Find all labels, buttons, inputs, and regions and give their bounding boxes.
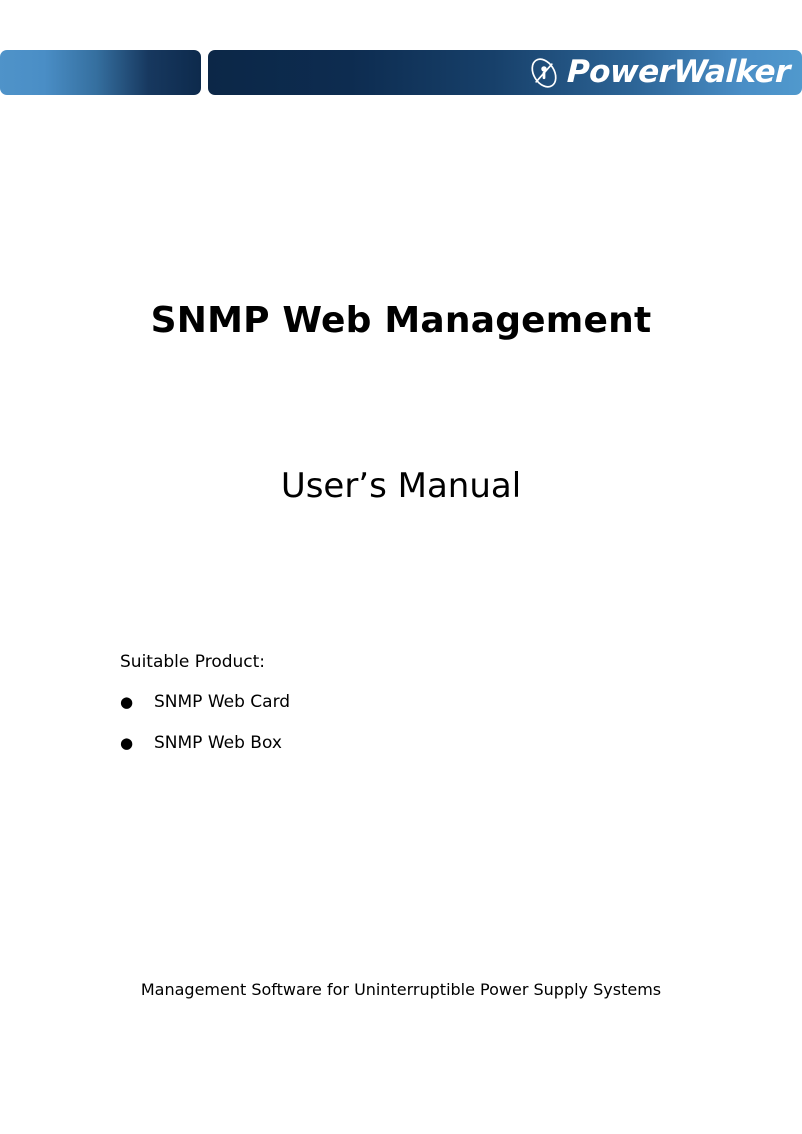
powerwalker-oval-emblem — [527, 56, 561, 90]
page-subtitle: User’s Manual — [0, 466, 802, 507]
product-label: SNMP Web Card — [138, 692, 290, 712]
list-item: ● SNMP Web Box — [120, 733, 680, 753]
footer-caption: Management Software for Uninterruptible … — [0, 980, 802, 999]
product-label: SNMP Web Box — [138, 733, 282, 753]
suitable-products-section: Suitable Product: ● SNMP Web Card ● SNMP… — [120, 652, 680, 773]
list-item: ● SNMP Web Card — [120, 692, 680, 712]
page-title: SNMP Web Management — [0, 299, 802, 342]
bullet-icon: ● — [120, 695, 138, 710]
powerwalker-logo: PowerWalker — [527, 50, 794, 95]
banner-block-left — [0, 50, 201, 95]
product-list: ● SNMP Web Card ● SNMP Web Box — [120, 692, 680, 753]
logo-wordmark: PowerWalker — [567, 57, 791, 88]
suitable-products-heading: Suitable Product: — [120, 652, 680, 672]
bullet-icon: ● — [120, 736, 138, 751]
